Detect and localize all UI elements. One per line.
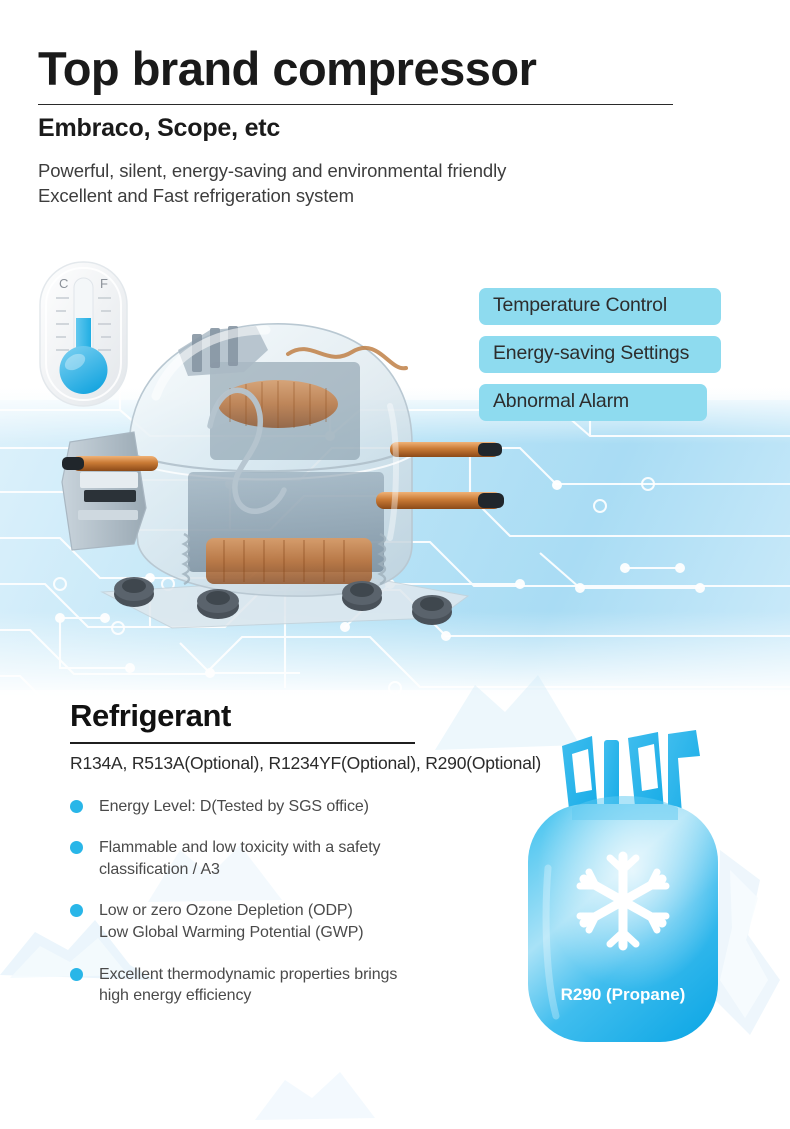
thermometer-fahrenheit-label: F [100,276,108,291]
title-divider [38,104,673,105]
bullet-line-1: Excellent thermodynamic properties bring… [99,966,397,983]
list-item: Flammable and low toxicity with a safety… [70,837,570,880]
feature-badge-list: Temperature Control Energy-saving Settin… [479,288,790,432]
bullet-dot-icon [70,904,83,917]
badge-energy-saving-settings[interactable]: Energy-saving Settings [479,336,721,373]
badge-abnormal-alarm[interactable]: Abnormal Alarm [479,384,707,421]
cylinder-label: R290 (Propane) [561,985,686,1004]
list-item: Low or zero Ozone Depletion (ODP) Low Gl… [70,900,570,943]
bullet-line-2: high energy efficiency [99,987,251,1004]
thermometer-icon: C F [36,258,131,410]
description-line-2: Excellent and Fast refrigeration system [38,184,738,209]
refrigerant-divider [70,742,415,744]
page-title: Top brand compressor [38,44,738,93]
brand-subtitle: Embraco, Scope, etc [38,114,738,143]
refrigerant-title: Refrigerant [70,698,570,734]
refrigerant-types: R134A, R513A(Optional), R1234YF(Optional… [70,753,570,774]
refrigerant-section: Refrigerant R134A, R513A(Optional), R123… [70,698,570,1027]
bullet-line-2: classification / A3 [99,861,220,878]
description-line-1: Powerful, silent, energy-saving and envi… [38,159,738,184]
header-block: Top brand compressor Embraco, Scope, etc… [38,44,738,209]
bullet-line-2: Low Global Warming Potential (GWP) [99,924,364,941]
bullet-line-1: Flammable and low toxicity with a safety [99,839,380,856]
poster-canvas: Top brand compressor Embraco, Scope, etc… [0,0,790,1129]
refrigerant-feature-list: Energy Level: D(Tested by SGS office) Fl… [70,796,570,1007]
list-item: Energy Level: D(Tested by SGS office) [70,796,570,818]
ice-crystal-decoration [250,1050,380,1129]
bullet-line-1: Low or zero Ozone Depletion (ODP) [99,902,353,919]
thermometer-celsius-label: C [59,276,68,291]
bullet-dot-icon [70,968,83,981]
list-item: Excellent thermodynamic properties bring… [70,964,570,1007]
bullet-line-1: Energy Level: D(Tested by SGS office) [99,798,369,815]
bullet-dot-icon [70,841,83,854]
bullet-dot-icon [70,800,83,813]
badge-temperature-control[interactable]: Temperature Control [479,288,721,325]
